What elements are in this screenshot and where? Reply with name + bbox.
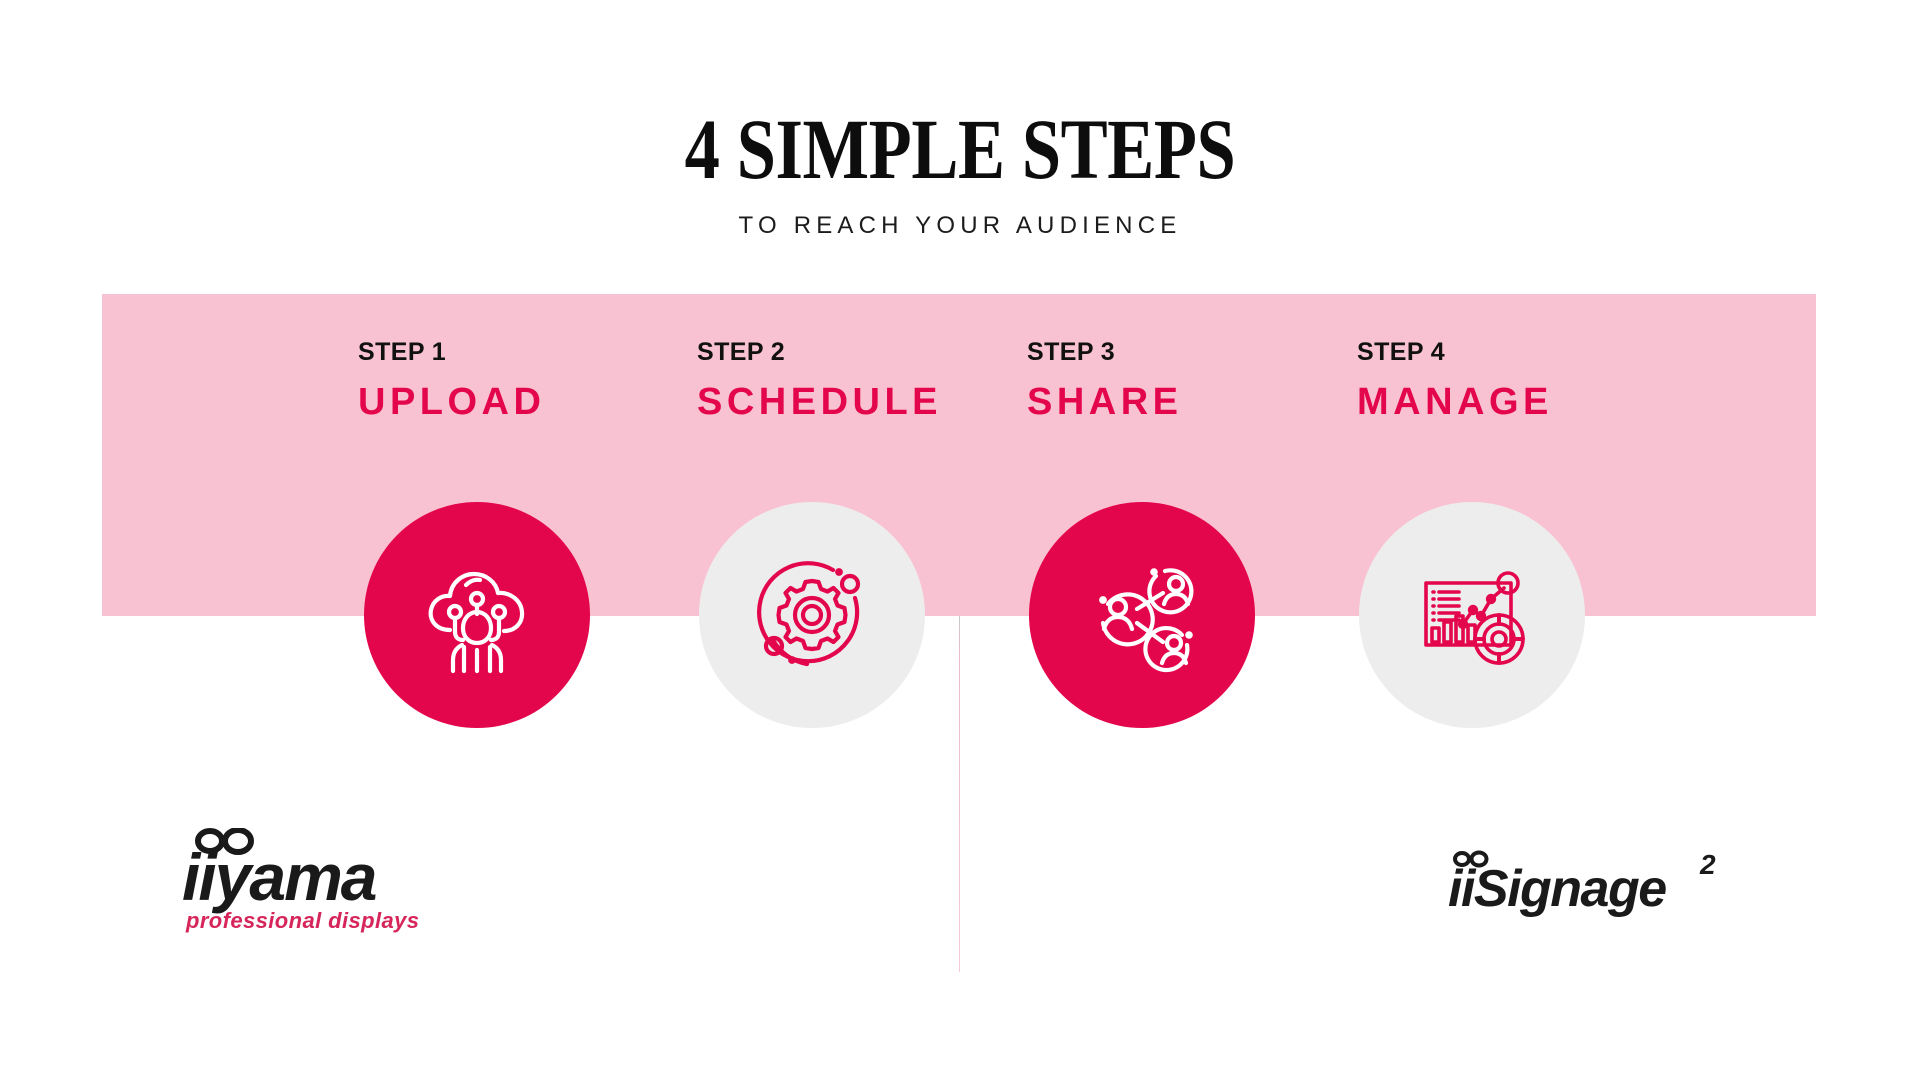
step-1-text: STEP 1 UPLOAD — [358, 338, 545, 424]
step-1-label: STEP 1 — [358, 338, 545, 367]
iiyama-wordmark: iiyama — [182, 840, 376, 914]
step-4-name: MANAGE — [1357, 381, 1553, 424]
page-title: 4 SIMPLE STEPS — [173, 106, 1747, 192]
step-4-text: STEP 4 MANAGE — [1357, 338, 1553, 424]
page-subtitle: TO REACH YOUR AUDIENCE — [0, 212, 1920, 240]
step-2-name: SCHEDULE — [697, 381, 942, 424]
step-3-label: STEP 3 — [1027, 338, 1183, 367]
step-3-name: SHARE — [1027, 381, 1183, 424]
iisignage-logo: iiSignage 2 — [1448, 850, 1748, 920]
analytics-dashboard-icon — [1407, 550, 1537, 680]
step-1-name: UPLOAD — [358, 381, 545, 424]
step-1-icon-circle[interactable] — [364, 502, 590, 728]
iisignage-superscript: 2 — [1699, 850, 1716, 880]
step-3-icon-circle[interactable] — [1029, 502, 1255, 728]
gear-orbit-icon — [747, 550, 877, 680]
iiyama-logo: iiyama professional displays — [182, 828, 442, 938]
step-2-label: STEP 2 — [697, 338, 942, 367]
share-network-users-icon — [1077, 550, 1207, 680]
cloud-upload-user-icon — [412, 550, 542, 680]
iisignage-wordmark: iiSignage — [1448, 860, 1666, 918]
step-4-icon-circle[interactable] — [1359, 502, 1585, 728]
slide-canvas: 4 SIMPLE STEPS TO REACH YOUR AUDIENCE ST… — [0, 0, 1920, 1080]
step-2-icon-circle[interactable] — [699, 502, 925, 728]
step-2-text: STEP 2 SCHEDULE — [697, 338, 942, 424]
step-4-label: STEP 4 — [1357, 338, 1553, 367]
step-3-text: STEP 3 SHARE — [1027, 338, 1183, 424]
vertical-divider — [959, 616, 960, 972]
iiyama-tagline: professional displays — [185, 908, 419, 933]
